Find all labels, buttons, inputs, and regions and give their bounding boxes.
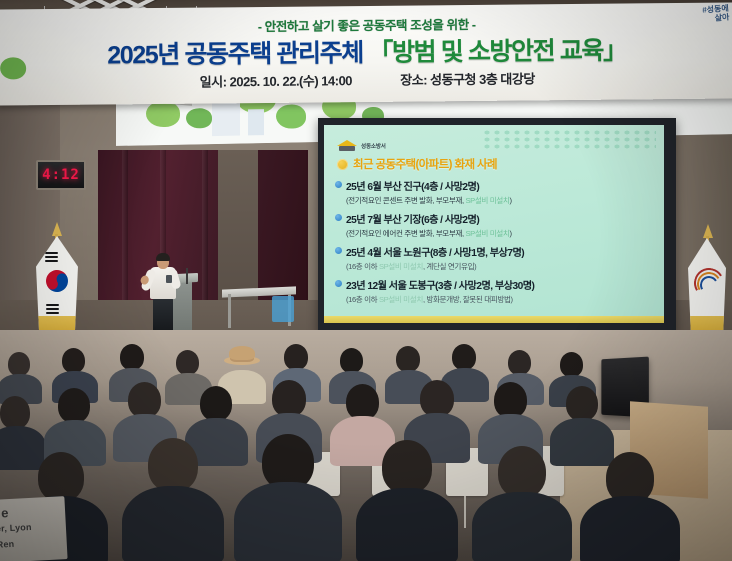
bullet-sub-text: (전기적요인 콘센트 주변 발화, 부모부재, SP설비 미설치) [346, 195, 512, 206]
floor-sign: e er, Lyon Ren [0, 496, 68, 561]
microphone-stand [186, 268, 188, 284]
bullet-sub-highlight: SP설비 미설치 [465, 229, 509, 238]
audience-hat [229, 346, 255, 360]
banner-place: 장소: 성동구청 3층 대강당 [400, 68, 535, 88]
digital-clock: 4:12 [36, 160, 86, 190]
bullet-dot-icon [335, 214, 342, 221]
bullet-main-text: 25년 4월 서울 노원구(8층 / 사망1명, 부상7명) [346, 244, 524, 259]
stage-chair [272, 296, 294, 322]
slide-org-name: 성동소방서 [361, 142, 386, 150]
presenter [146, 255, 180, 333]
stage-door [218, 150, 258, 325]
slide-title: 최근 공동주택(아파트) 화재 사례 [353, 156, 497, 172]
bullet-sub-pre: (16층 이하 [346, 295, 379, 304]
clock-display: 4:12 [42, 167, 80, 183]
floor-sign-line1: er, Lyon [0, 522, 32, 534]
bullet-dot-icon [335, 280, 342, 287]
slide-bullet-3: 23년 12월 서울 도봉구(3층 / 사망2명, 부상30명) (16층 이하… [346, 277, 534, 305]
slide-title-row: 최근 공동주택(아파트) 화재 사례 [337, 156, 497, 172]
slide-bullet-0: 25년 6월 부산 진구(4층 / 사망2명) (전기적요인 콘센트 주변 발화… [346, 178, 512, 206]
floor-sign-glyph: e [1, 505, 9, 520]
bullet-main-text: 23년 12월 서울 도봉구(3층 / 사망2명, 부상30명) [346, 277, 534, 292]
screenshot-root: 4:12 - 안전하고 살기 좋은 공동주택 조성을 위한 - 2025년 공동… [0, 0, 732, 561]
bullet-sub-text: (전기적요인 에어컨 주변 발화, 부모부재, SP설비 미설치) [346, 228, 512, 239]
slide-footer-bar [324, 316, 664, 323]
slide-bullet-2: 25년 4월 서울 노원구(8층 / 사망1명, 부상7명) (16층 이하 S… [346, 244, 524, 272]
bullet-sub-pre: (16층 이하 [346, 262, 379, 271]
bullet-sub-highlight: SP설비 미설치 [465, 196, 509, 205]
bullet-dot-icon [335, 247, 342, 254]
slide-dot-pattern [482, 129, 656, 151]
bullet-main-text: 25년 6월 부산 진구(4층 / 사망2명) [346, 178, 512, 193]
banner-title-part1: 2025년 공동주택 관리주체 [107, 39, 363, 69]
bullet-sub-text: (16층 이하 SP설비 미설치, 계단실 연기유입) [346, 261, 524, 272]
banner-date: 일시: 2025. 10. 22.(수) 14:00 [200, 70, 352, 90]
slide-org-logo: 성동소방서 [337, 139, 386, 152]
bullet-sub-post: , 계단실 연기유입) [423, 262, 476, 271]
bullet-sub-post: , 방화문개방, 잘못된 대피방법) [423, 295, 513, 304]
fire-dept-emblem-icon [337, 139, 357, 152]
banner-title-part2: 「방범 및 소방안전 교육」 [368, 37, 627, 67]
banner-main-title: 2025년 공동주택 관리주체 「방범 및 소방안전 교육」 [0, 29, 732, 72]
bullet-sub-highlight: SP설비 미설치 [379, 262, 423, 271]
bullet-sub-post: ) [509, 229, 511, 238]
floor-sign-line2: Ren [0, 539, 15, 550]
bullet-dot-icon [335, 181, 342, 188]
bullet-sub-highlight: SP설비 미설치 [379, 295, 423, 304]
projection-screen: 성동소방서 최근 공동주택(아파트) 화재 사례 25년 6월 부산 진구(4층… [318, 118, 676, 334]
slide-title-bullet-icon [337, 159, 348, 170]
bullet-sub-post: ) [509, 196, 511, 205]
bullet-sub-text: (16층 이하 SP설비 미설치, 방화문개방, 잘못된 대피방법) [346, 294, 534, 305]
slide-bullet-1: 25년 7월 부산 기장(6층 / 사망2명) (전기적요인 에어컨 주변 발화… [346, 211, 512, 239]
banner-hashtag: #성동에 살아 [702, 4, 730, 24]
bullet-sub-pre: (전기적요인 에어컨 주변 발화, 부모부재, [346, 229, 465, 238]
event-banner: - 안전하고 살기 좋은 공동주택 조성을 위한 - 2025년 공동주택 관리… [0, 2, 732, 105]
bullet-sub-pre: (전기적요인 콘센트 주변 발화, 부모부재, [346, 196, 465, 205]
bullet-main-text: 25년 7월 부산 기장(6층 / 사망2명) [346, 211, 512, 226]
presentation-slide: 성동소방서 최근 공동주택(아파트) 화재 사례 25년 6월 부산 진구(4층… [324, 125, 664, 323]
